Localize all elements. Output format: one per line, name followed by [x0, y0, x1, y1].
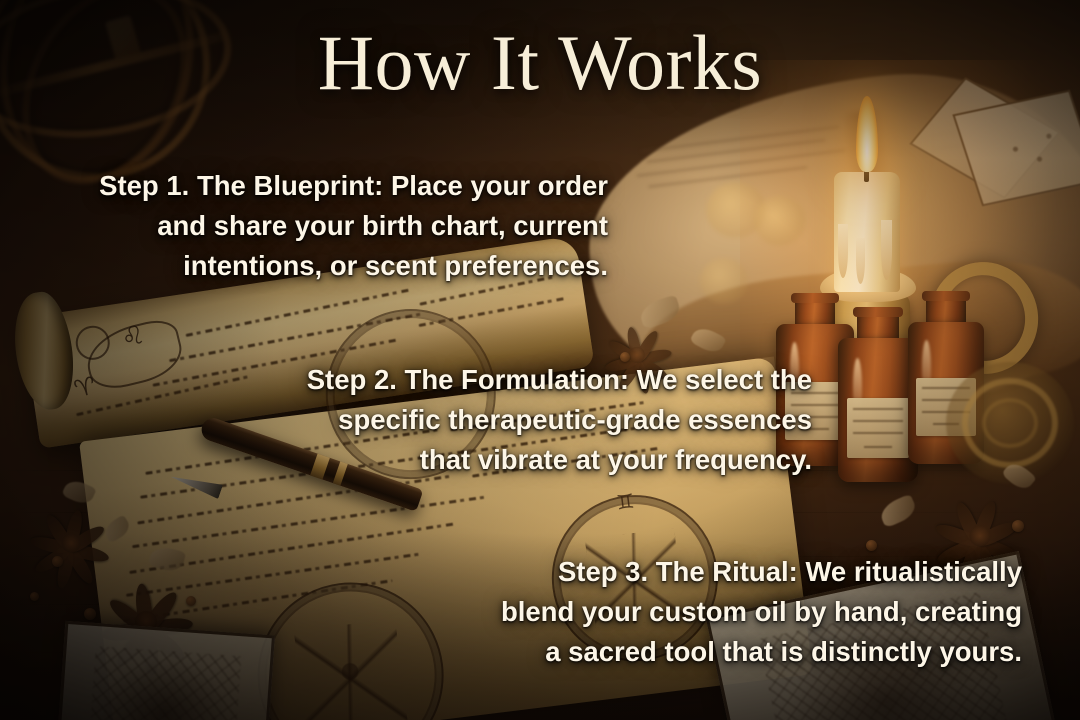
step-1-text: Step 1. The Blueprint: Place your order …	[20, 166, 608, 286]
page-title: How It Works	[0, 24, 1080, 102]
poster-content: How It Works Step 1. The Blueprint: Plac…	[0, 0, 1080, 720]
step-2-text: Step 2. The Formulation: We select the s…	[240, 360, 812, 480]
step-3-text: Step 3. The Ritual: We ritualistically b…	[440, 552, 1022, 672]
poster-canvas: ♌ ♈	[0, 0, 1080, 720]
